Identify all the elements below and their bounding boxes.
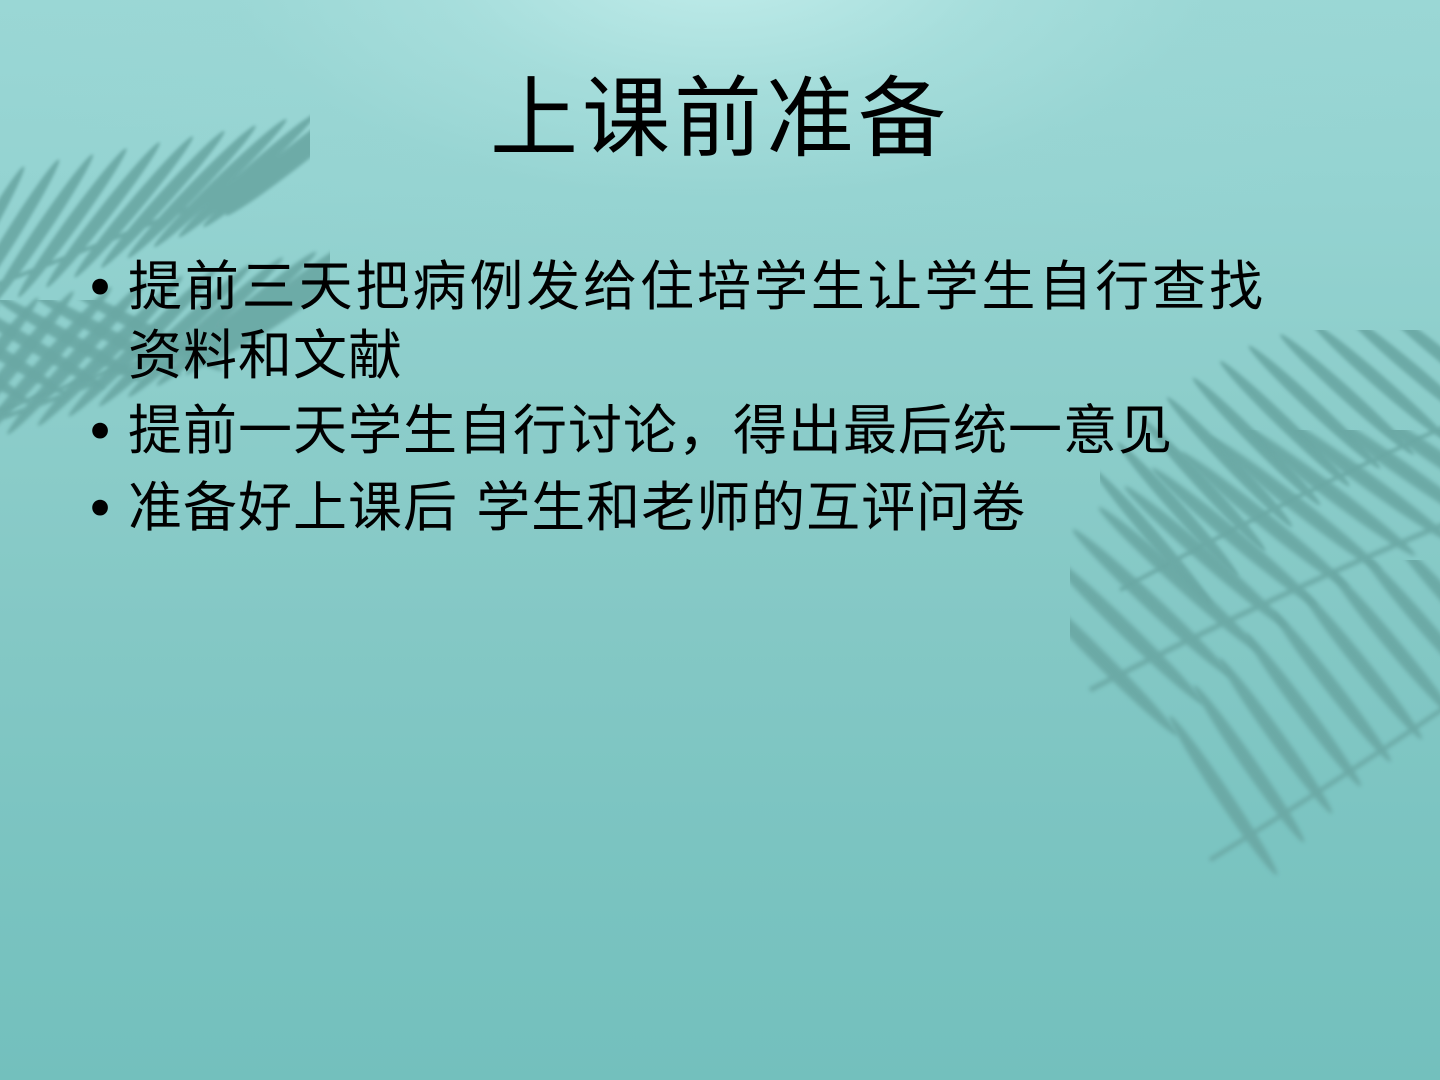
bullet-text: 提前一天学生自行讨论，得出最后统一意见 xyxy=(128,396,1372,465)
slide-body-bullet-list: • 提前三天把病例发给住培学生让学生自行查找资料和文献 • 提前一天学生自行讨论… xyxy=(72,252,1372,550)
bullet-point-icon: • xyxy=(72,252,128,323)
list-item: • 提前一天学生自行讨论，得出最后统一意见 xyxy=(72,396,1372,467)
bullet-point-icon: • xyxy=(72,396,128,467)
slide-title: 上课前准备 xyxy=(0,72,1440,165)
bullet-point-icon: • xyxy=(72,473,128,544)
list-item: • 提前三天把病例发给住培学生让学生自行查找资料和文献 xyxy=(72,252,1372,390)
presentation-slide: 上课前准备 • 提前三天把病例发给住培学生让学生自行查找资料和文献 • 提前一天… xyxy=(0,0,1440,1080)
bullet-text: 准备好上课后 学生和老师的互评问卷 xyxy=(128,473,1372,542)
list-item: • 准备好上课后 学生和老师的互评问卷 xyxy=(72,473,1372,544)
bullet-text: 提前三天把病例发给住培学生让学生自行查找资料和文献 xyxy=(128,252,1372,390)
